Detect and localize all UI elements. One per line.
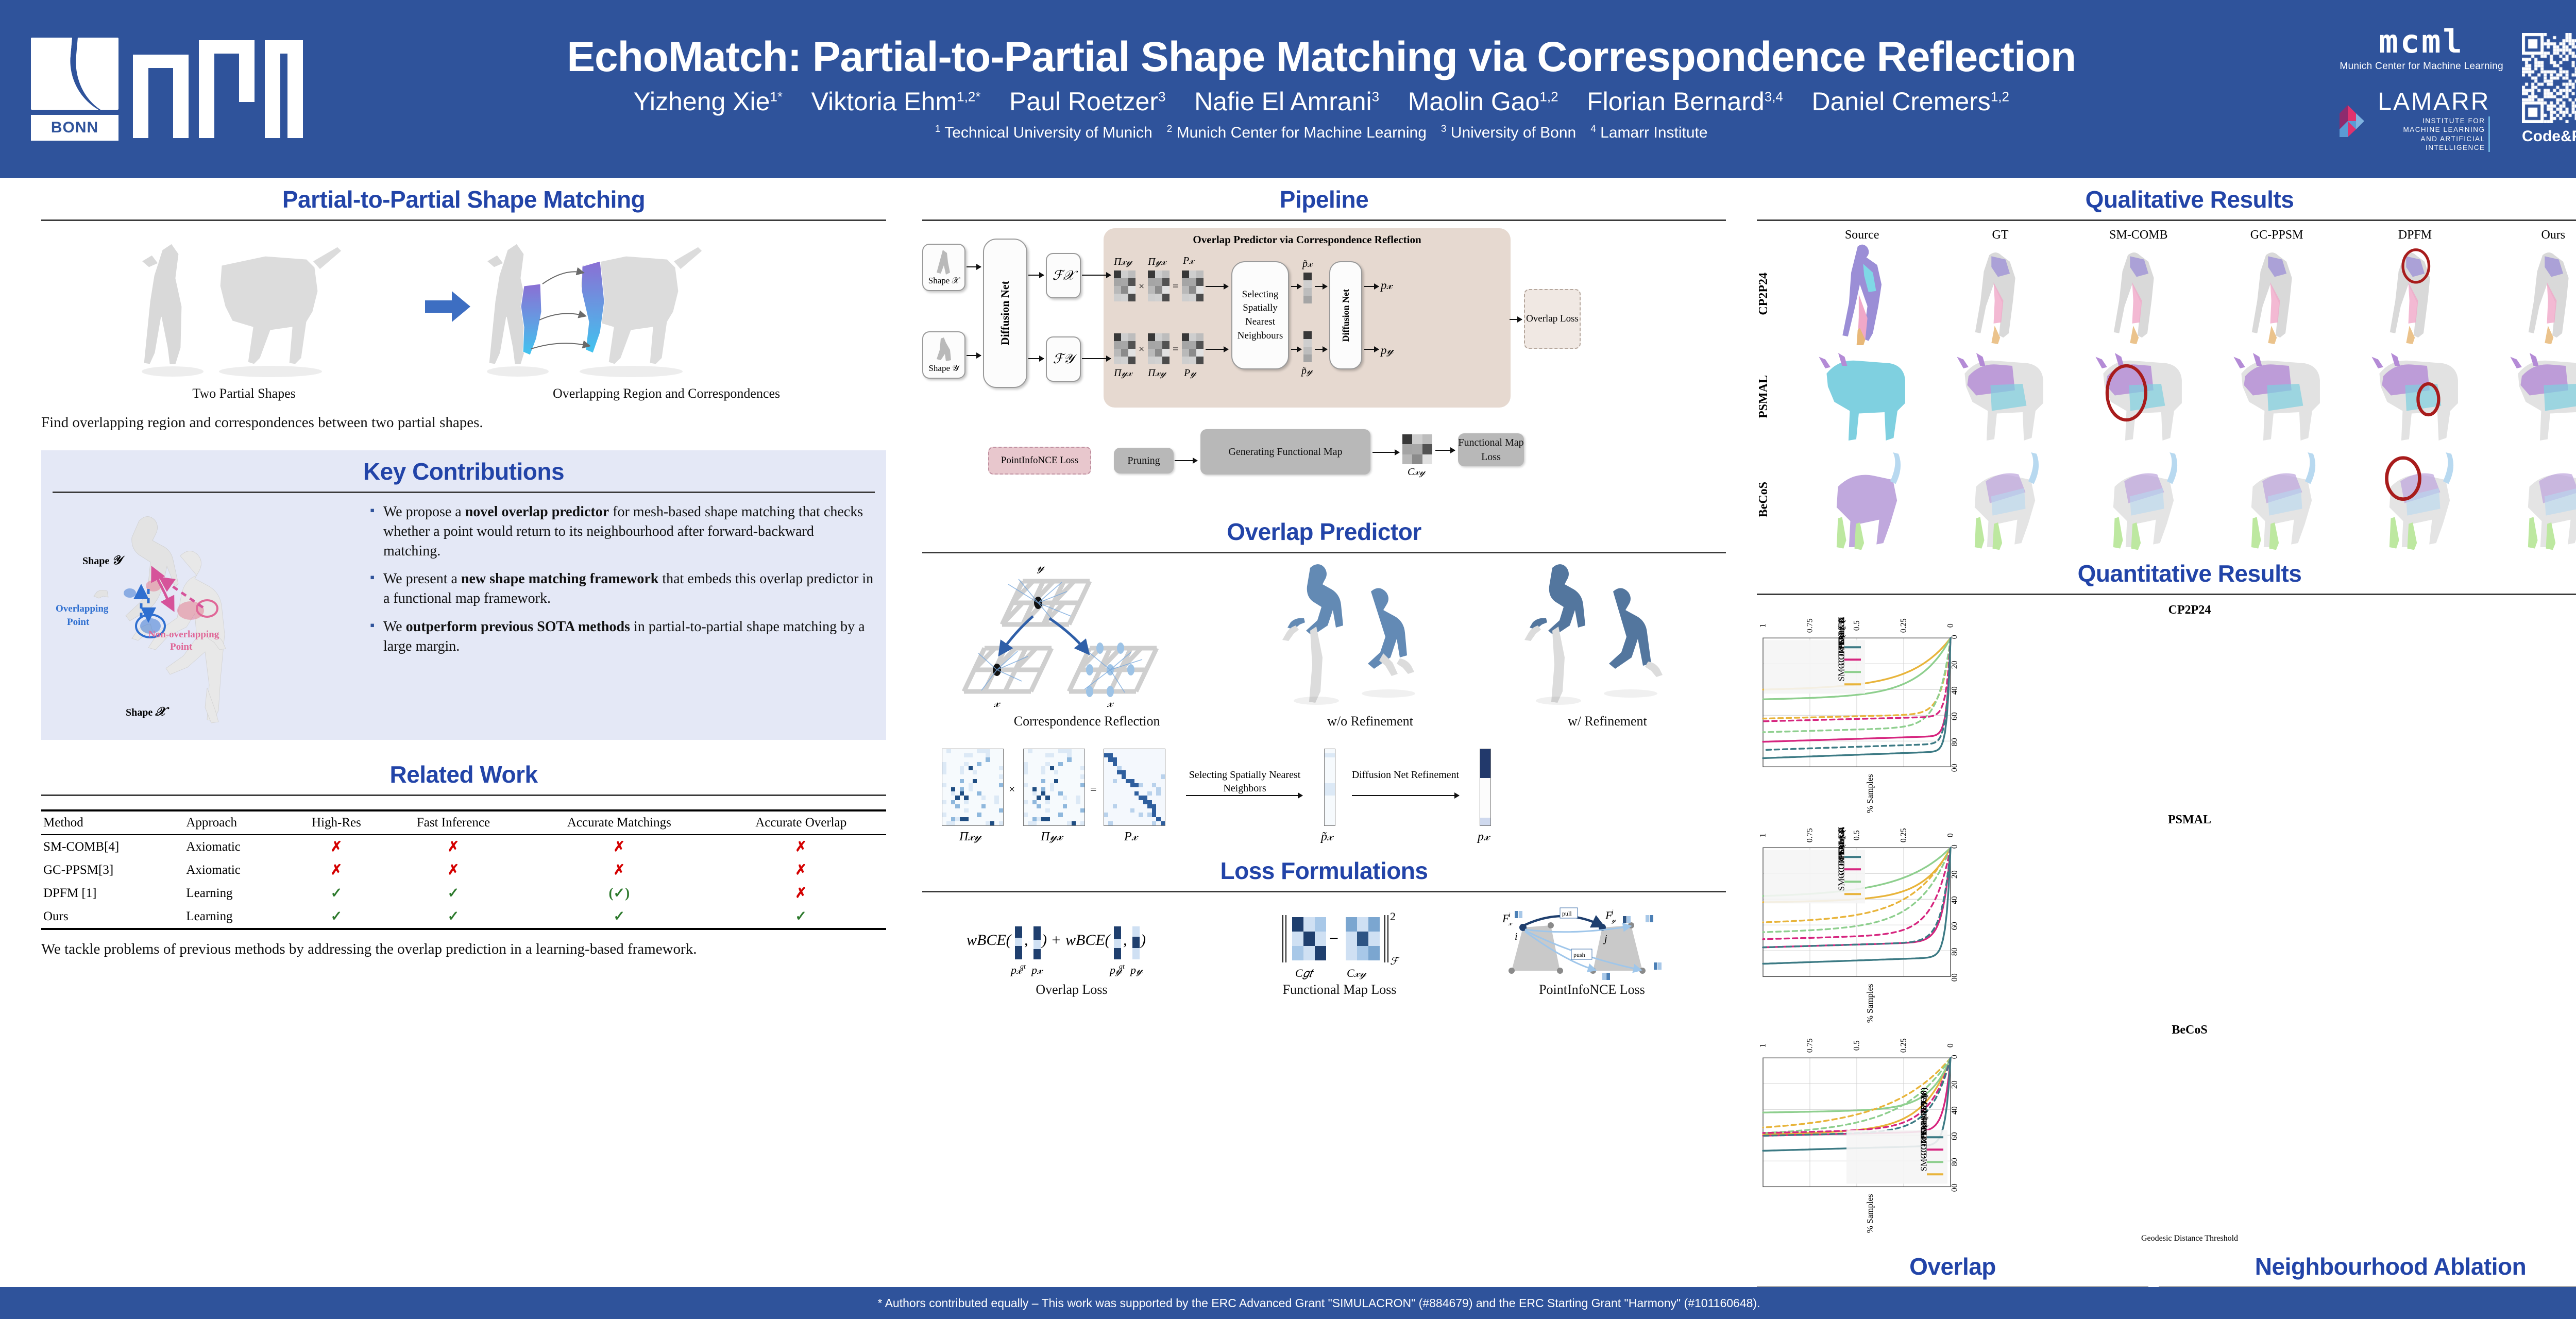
chart-2-ylabel: % Samples 0 20 40 60 80 100 0 0.25 0.5 0… (1757, 1037, 1984, 1233)
qual-col-1: GT (1931, 228, 2069, 242)
column-middle: Pipeline Shape 𝒳 Shape 𝒴 Diffusion Net ℱ… (922, 185, 1726, 997)
svg-text:ℱ: ℱ (1390, 956, 1400, 967)
pipeline-label-p-y: p𝓎 (1381, 344, 1394, 357)
kc-bullet-2: We outperform previous SOTA methods in p… (370, 617, 875, 656)
pipeline-label-shape-x: Shape 𝒳 (928, 276, 959, 286)
qual-cell-1-3 (2208, 345, 2346, 448)
op-label-y: 𝓎 (1037, 561, 1045, 574)
title-block: EchoMatch: Partial-to-Partial Shape Matc… (303, 36, 2340, 142)
loss-fmap: − 2 ℱ C𝑔𝑡 C𝓍𝓎 (1262, 905, 1417, 997)
qual-row-label-0: CP2P24 (1757, 273, 1793, 315)
svg-text:0: 0 (1951, 844, 1959, 849)
qual-cell-0-0 (1793, 242, 1931, 345)
svg-text:80: 80 (1951, 948, 1959, 956)
pipeline-node-features-x: ℱ𝒳 (1046, 253, 1081, 298)
rw-col-1: Approach (184, 810, 289, 835)
rw-approach-1: Axiomatic (184, 858, 289, 882)
op-final-bar (1480, 749, 1491, 826)
lamarr-subtitle: INSTITUTE FORMACHINE LEARNINGAND ARTIFIC… (2378, 116, 2490, 152)
kc-bullet-0: We propose a novel overlap predictor for… (370, 502, 875, 561)
lamarr-diamond-icon (2340, 105, 2371, 137)
pipeline-label-p-x: p𝓍 (1381, 279, 1392, 292)
divider (53, 492, 875, 493)
divider (922, 552, 1726, 553)
chart-1-title: PSMAL (1757, 813, 2576, 827)
svg-text:0: 0 (1951, 1055, 1959, 1059)
svg-text:0.25: 0.25 (1900, 618, 1908, 633)
qr-code-block[interactable]: Code&Paper (2522, 33, 2576, 145)
affiliation-1: 2 Munich Center for Machine Learning (1167, 124, 1427, 141)
column-right: Qualitative Results SourceGTSM-COMBGC-PP… (1757, 185, 2576, 1319)
qual-cell-0-4 (2346, 242, 2484, 345)
rw-cell-2-2: (✓) (522, 882, 716, 905)
chart-1-ylabel: % Samples 0 20 40 60 80 100 0 0.25 0.5 0… (1757, 827, 1984, 1023)
pipeline-label-pi-yx-1: Π𝓎𝓍 (1148, 256, 1166, 268)
table-row: MethodApproachHigh-ResFast InferenceAccu… (41, 810, 886, 835)
rw-method-0: SM-COMB[4] (41, 835, 184, 858)
kc-bullet-list: We propose a novel overlap predictor for… (370, 502, 875, 726)
rw-cell-0-2: ✗ (522, 835, 716, 858)
university-of-bonn-logo: BONN (31, 38, 118, 141)
qual-column-headers: SourceGTSM-COMBGC-PPSMDPFMOurs (1793, 228, 2576, 242)
op-mat-label-1: Π𝓎𝓍 (1041, 830, 1063, 844)
pipeline-op-equals-2: = (1173, 344, 1178, 356)
pipeline-label-pi-yx-2: Π𝓎𝓍 (1114, 367, 1132, 379)
svg-text:0.5: 0.5 (1853, 830, 1861, 840)
qual-col-4: DPFM (2346, 228, 2484, 242)
rw-col-0: Method (41, 810, 184, 835)
bonn-crest-icon (31, 38, 118, 110)
svg-text:𝓍: 𝓍 (1508, 920, 1513, 927)
svg-text:): ) (1140, 932, 1146, 949)
qual-cell-0-2 (2070, 242, 2208, 345)
pipeline-label-P-y: P𝓎 (1184, 367, 1196, 379)
poster-title-rest: Partial-to-Partial Shape Matching via Co… (812, 33, 2076, 80)
section-pipeline-title: Pipeline (922, 185, 1726, 213)
section-qual-title: Qualitative Results (1757, 185, 2576, 213)
quantitative-charts: CP2P24 % Samples 0 20 40 60 80 100 0 0.2… (1757, 603, 2576, 1233)
svg-text:0.75: 0.75 (1806, 1038, 1815, 1053)
pipeline-node-fmap-loss: Functional Map Loss (1458, 433, 1524, 466)
svg-text:) +: ) + (1041, 932, 1061, 949)
tum-logo-icon (133, 40, 303, 138)
section-related-work: Related Work MethodApproachHigh-ResFast … (41, 760, 886, 959)
op-label-x1: 𝓍 (993, 697, 1001, 710)
chart-1: PSMAL % Samples 0 20 40 60 80 100 0 0.25… (1757, 813, 2576, 1233)
svg-text:0: 0 (1951, 635, 1959, 639)
svg-text:80: 80 (1951, 1158, 1959, 1166)
footer-text: * Authors contributed equally – This wor… (878, 1296, 1760, 1310)
qual-cell-1-1 (1931, 345, 2069, 448)
affiliation-list: 1 Technical University of Munich2 Munich… (313, 124, 2329, 142)
svg-text:40: 40 (1951, 686, 1959, 695)
rw-approach-0: Axiomatic (184, 835, 289, 858)
rw-footnote: We tackle problems of previous methods b… (41, 939, 886, 959)
qual-cell-2-3 (2208, 448, 2346, 551)
qr-code-icon[interactable] (2522, 33, 2576, 123)
ptp-caption-right: Overlapping Region and Correspondences (447, 386, 886, 401)
rw-cell-3-0: ✓ (289, 905, 384, 929)
qual-col-3: GC-PPSM (2208, 228, 2346, 242)
svg-text:60: 60 (1951, 922, 1959, 930)
section-qualitative: Qualitative Results SourceGTSM-COMBGC-PP… (1757, 185, 2576, 551)
section-ptp-title: Partial-to-Partial Shape Matching (41, 185, 886, 213)
qual-cell-2-0 (1793, 448, 1931, 551)
rw-method-1: GC-PPSM[3] (41, 858, 184, 882)
chart-0-ylabel: % Samples 0 20 40 60 80 100 0 0.25 0.5 0… (1757, 617, 1984, 813)
author-2: Paul Roetzer3 (1009, 87, 1166, 116)
svg-text:20: 20 (1951, 1080, 1959, 1089)
section-quantitative: Quantitative Results CP2P24 % Samples 0 … (1757, 560, 2576, 1243)
lamarr-logo: LAMARR INSTITUTE FORMACHINE LEARNINGAND … (2340, 90, 2503, 152)
loss-caption-2: PointInfoNCE Loss (1499, 982, 1685, 997)
op-mat-op-1: = (1090, 783, 1096, 796)
author-0: Yizheng Xie1* (633, 87, 783, 116)
two-partial-shapes-illustration (131, 229, 420, 384)
pipeline-diagram: Shape 𝒳 Shape 𝒴 Diffusion Net ℱ𝒳 ℱ𝒴 Over… (922, 225, 1726, 503)
svg-text:𝓎: 𝓎 (1611, 917, 1616, 924)
author-1: Viktoria Ehm1,2* (811, 87, 981, 116)
section-loss-formulations: Loss Formulations wBCE( , ) + wBCE( , (922, 857, 1726, 997)
pipeline-node-shape-y: Shape 𝒴 (922, 331, 965, 379)
pipeline-label-P-x: P𝓍 (1183, 255, 1194, 267)
table-row: SM-COMB[4] Axiomatic✗✗✗✗ (41, 835, 886, 858)
rw-method-3: Ours (41, 905, 184, 929)
loss-push-label: push (1573, 951, 1585, 958)
qual-row-label-2: BeCoS (1757, 482, 1793, 517)
rw-cell-3-1: ✓ (384, 905, 523, 929)
op-matrix-chain: Π𝓍𝓎 × Π𝓎𝓍 = P𝓍 Selecting Spatially Neare… (922, 734, 1726, 853)
pipeline-node-shape-x: Shape 𝒳 (922, 244, 965, 291)
author-4: Maolin Gao1,2 (1408, 87, 1558, 116)
rw-approach-3: Learning (184, 905, 289, 929)
svg-text:gt: gt (1020, 963, 1026, 971)
author-3: Nafie El Amrani3 (1194, 87, 1379, 116)
qual-cell-2-1 (1931, 448, 2069, 551)
author-5: Florian Bernard3,4 (1587, 87, 1783, 116)
rw-col-2: High-Res (289, 810, 384, 835)
poster-header: BONN EchoMatch: Partial-to-Partial Shape… (0, 0, 2576, 178)
affiliation-3: 4 Lamarr Institute (1590, 124, 1707, 141)
svg-text:0.25: 0.25 (1900, 1038, 1908, 1053)
svg-text:wBCE(: wBCE( (1065, 932, 1111, 949)
rw-cell-1-3: ✗ (716, 858, 886, 882)
svg-text:Ours (84.61): Ours (84.61) (1837, 617, 1846, 644)
svg-text:60: 60 (1951, 712, 1959, 720)
op-arrow2-label: Diffusion Net Refinement (1349, 768, 1462, 782)
section-loss-title: Loss Formulations (922, 857, 1726, 885)
poster-root: BONN EchoMatch: Partial-to-Partial Shape… (0, 0, 2576, 1319)
author-6: Daniel Cremers1,2 (1811, 87, 2009, 116)
chart-0-title: CP2P24 (1757, 603, 2576, 617)
rw-cell-2-0: ✓ (289, 882, 384, 905)
divider (922, 891, 1726, 892)
mcml-subtitle: Munich Center for Machine Learning (2340, 61, 2503, 72)
loss-pull-label: pull (1562, 910, 1572, 917)
svg-text:100: 100 (1951, 764, 1959, 772)
svg-text:0.25: 0.25 (1900, 828, 1908, 842)
loss-caption-0: Overlap Loss (963, 982, 1180, 997)
loss-pointinfonce: pull push F 𝓍 i F 𝓎 j i j (1499, 905, 1685, 997)
svg-text:80: 80 (1951, 738, 1959, 746)
svg-text:gt: gt (1119, 963, 1125, 971)
column-left: Partial-to-Partial Shape Matching (41, 185, 886, 959)
rw-approach-2: Learning (184, 882, 289, 905)
svg-text:i: i (1515, 931, 1518, 942)
ptp-body: Find overlapping region and corresponden… (41, 413, 886, 433)
op-caption-0: Correspondence Reflection (922, 714, 1251, 729)
qual-row-label-1: PSMAL (1757, 375, 1793, 418)
op-mat-label-3: p̃𝓍 (1321, 830, 1333, 844)
divider (1757, 219, 2576, 221)
op-caption-2: w/ Refinement (1489, 714, 1726, 729)
rw-col-4: Accurate Matchings (522, 810, 716, 835)
svg-text:40: 40 (1951, 1106, 1959, 1114)
section-kc-title: Key Contributions (53, 458, 875, 485)
kc-figure: Shape 𝒴 Shape 𝒳 Overlapping Point Non-ov… (53, 502, 362, 726)
related-work-body: SM-COMB[4] Axiomatic✗✗✗✗ GC-PPSM[3] Axio… (41, 835, 886, 930)
svg-text:1: 1 (1759, 623, 1768, 628)
section-pipeline: Pipeline Shape 𝒳 Shape 𝒴 Diffusion Net ℱ… (922, 185, 1726, 503)
related-work-table: MethodApproachHigh-ResFast InferenceAccu… (41, 809, 886, 930)
svg-text:0.75: 0.75 (1806, 828, 1815, 842)
mcml-wordmark: mcml (2340, 26, 2503, 58)
svg-text:,: , (1123, 932, 1127, 949)
rw-col-3: Fast Inference (384, 810, 523, 835)
svg-text:Point: Point (67, 617, 90, 628)
pipeline-label-p-tilde-y: p̃𝓎 (1301, 365, 1313, 377)
chart-2-title: BeCoS (1757, 1023, 2576, 1037)
section-ablation-title: Neighbourhood Ablation (2159, 1253, 2576, 1280)
svg-text:0.5: 0.5 (1853, 1040, 1861, 1051)
rw-cell-3-2: ✓ (522, 905, 716, 929)
pipeline-label-C-xy: C𝓍𝓎 (1408, 466, 1425, 478)
mcml-logo: mcml Munich Center for Machine Learning (2340, 26, 2503, 72)
rw-cell-3-3: ✓ (716, 905, 886, 929)
section-overlap-title: Overlap (1757, 1253, 2148, 1280)
w-refinement-figure (1522, 561, 1687, 713)
pipeline-node-diffusion-net: Diffusion Net (983, 239, 1027, 388)
pipeline-op-times-1: × (1139, 281, 1144, 293)
svg-text:1: 1 (1759, 1043, 1768, 1047)
wo-refinement-figure (1280, 561, 1445, 713)
section-rw-title: Related Work (41, 760, 886, 788)
svg-text:40: 40 (1951, 896, 1959, 904)
svg-text:0: 0 (1946, 623, 1955, 628)
pipeline-label-p-tilde-x: p̃𝓍 (1302, 258, 1312, 270)
qual-cell-1-4 (2346, 345, 2484, 448)
section-op-title: Overlap Predictor (922, 518, 1726, 546)
rw-cell-0-1: ✗ (384, 835, 523, 858)
divider (922, 219, 1726, 221)
qual-row-0: CP2P24 (1757, 242, 2576, 345)
pipeline-overlap-predictor-box: Overlap Predictor via Correspondence Ref… (1104, 228, 1511, 408)
rw-method-2: DPFM [1] (41, 882, 184, 905)
pipeline-op-title: Overlap Predictor via Correspondence Ref… (1104, 228, 1511, 246)
rw-cell-0-3: ✗ (716, 835, 886, 858)
qual-cell-2-4 (2346, 448, 2484, 551)
affiliation-0: 1 Technical University of Munich (935, 124, 1153, 141)
svg-text:1: 1 (1759, 833, 1768, 837)
svg-text:p𝓎: p𝓎 (1129, 963, 1143, 976)
pipeline-node-pruning: Pruning (1114, 448, 1174, 474)
correspondence-reflection-figure: 𝓎 𝓍 𝓍 (961, 561, 1203, 713)
loss-overlap: wBCE( , ) + wBCE( , ) p𝓍 gt (963, 905, 1180, 997)
kc-label-shape-y: Shape 𝒴 (82, 554, 125, 567)
pipeline-node-overlap-loss: Overlap Loss (1524, 289, 1581, 349)
qual-cell-1-5 (2484, 345, 2576, 448)
svg-text:Ours (81.27): Ours (81.27) (1837, 827, 1846, 854)
rw-cell-0-0: ✗ (289, 835, 384, 858)
pipeline-node-generating-fmap: Generating Functional Map (1200, 429, 1370, 475)
rw-cell-2-1: ✓ (384, 882, 523, 905)
kc-label-shape-x: Shape 𝒳 (126, 705, 170, 719)
author-list: Yizheng Xie1* Viktoria Ehm1,2* Paul Roet… (313, 87, 2329, 116)
kc-bullet-1: We present a new shape matching framewor… (370, 569, 875, 608)
chart-2-legend: SM-COMB (39.79) GC-PPSM (30.72) DPFM (45… (1846, 1087, 1947, 1183)
overlap-correspondence-illustration (477, 229, 796, 384)
rw-cell-1-1: ✗ (384, 858, 523, 882)
pipeline-label-pi-xy-2: Π𝓍𝓎 (1148, 367, 1166, 379)
svg-text:100: 100 (1951, 973, 1959, 982)
svg-text:2: 2 (1390, 910, 1396, 923)
chart-2: BeCoS % Samples 0 20 40 60 80 100 0 0.25… (1757, 1023, 2576, 1233)
arrow-right-icon (425, 286, 471, 327)
qual-cell-0-1 (1931, 242, 2069, 345)
table-row: Ours Learning✓✓✓✓ (41, 905, 886, 929)
pipeline-op-times-2: × (1139, 344, 1144, 356)
svg-text:20: 20 (1951, 870, 1959, 878)
svg-text:−: − (1329, 929, 1338, 948)
op-mat-label-2: P𝓍 (1124, 830, 1138, 844)
table-row: DPFM [1] Learning✓✓(✓)✗ (41, 882, 886, 905)
qual-cell-1-2 (2070, 345, 2208, 448)
op-mat-label-4: p𝓍 (1478, 830, 1489, 844)
bonn-logo-text: BONN (31, 115, 118, 141)
loss-caption-1: Functional Map Loss (1262, 982, 1417, 997)
qual-rows: CP2P24 (1757, 242, 2576, 551)
rw-col-5: Accurate Overlap (716, 810, 886, 835)
svg-text:,: , (1024, 932, 1028, 949)
pipeline-op-equals-1: = (1173, 281, 1178, 293)
affiliation-2: 3 University of Bonn (1441, 124, 1576, 141)
tum-logo (133, 40, 303, 138)
chart-1-legend: SM-COMB (31.03) GC-PPSM (24.58) DPFM (67… (1764, 827, 1865, 903)
section-overlap-predictor: Overlap Predictor (922, 518, 1726, 853)
table-row: GC-PPSM[3] Axiomatic✗✗✗✗ (41, 858, 886, 882)
svg-text:0.75: 0.75 (1806, 618, 1815, 633)
qr-code-label: Code&Paper (2522, 128, 2576, 145)
qual-cell-0-3 (2208, 242, 2346, 345)
rw-cell-1-0: ✗ (289, 858, 384, 882)
rw-cell-2-3: ✗ (716, 882, 886, 905)
divider (41, 219, 886, 221)
op-arrow1-label: Selecting Spatially Nearest Neighbors (1183, 768, 1307, 795)
svg-text:0: 0 (1946, 1043, 1955, 1047)
svg-text:wBCE(: wBCE( (967, 932, 1012, 949)
pipeline-label-shape-y: Shape 𝒴 (928, 363, 959, 374)
two-humans-overlap-illustration: Shape 𝒴 Shape 𝒳 Overlapping Point Non-ov… (53, 502, 362, 724)
pipeline-node-diffusion-net-2: Diffusion Net (1329, 261, 1362, 369)
svg-text:0.5: 0.5 (1853, 620, 1861, 631)
svg-text:Point: Point (170, 641, 193, 652)
rw-cell-1-2: ✗ (522, 858, 716, 882)
pipeline-node-selecting-neighbours: Selecting Spatially Nearest Neighbours (1231, 261, 1289, 369)
chart-0-legend: SM-COMB (32.12) GC-PPSM (36.78) DPFM (72… (1764, 617, 1865, 694)
qual-cell-2-2 (2070, 448, 2208, 551)
svg-text:60: 60 (1951, 1132, 1959, 1140)
qual-cell-2-5 (2484, 448, 2576, 551)
ptp-figure (41, 229, 886, 384)
qual-cell-0-5 (2484, 242, 2576, 345)
op-label-x2: 𝓍 (1107, 697, 1114, 710)
op-mat-op-0: × (1009, 783, 1015, 796)
ptp-caption-left: Two Partial Shapes (41, 386, 447, 401)
op-mat-label-0: Π𝓍𝓎 (959, 830, 981, 844)
qual-col-5: Ours (2484, 228, 2576, 242)
pipeline-node-features-y: ℱ𝒴 (1046, 336, 1081, 382)
divider (1757, 594, 2576, 595)
charts-xaxis-label: Geodesic Distance Threshold (1757, 1234, 2576, 1243)
section-quant-title: Quantitative Results (1757, 560, 2576, 587)
sponsor-logos: mcml Munich Center for Machine Learning (2340, 26, 2576, 152)
divider (41, 794, 886, 796)
svg-text:p𝓍: p𝓍 (1030, 963, 1043, 976)
svg-text:20: 20 (1951, 661, 1959, 669)
svg-text:0: 0 (1946, 833, 1955, 837)
qual-row-1: PSMAL (1757, 345, 2576, 448)
kc-label-non-overlapping: Non-overlapping (148, 629, 219, 640)
lamarr-wordmark: LAMARR (2378, 90, 2490, 114)
pipeline-node-pointinfonce-loss: PointInfoNCE Loss (988, 447, 1091, 475)
qual-cell-1-0 (1793, 345, 1931, 448)
qual-row-2: BeCoS (1757, 448, 2576, 551)
qual-col-2: SM-COMB (2070, 228, 2208, 242)
svg-text:Ours (59.18): Ours (59.18) (1919, 1087, 1929, 1134)
pipeline-label-pi-xy-1: Π𝓍𝓎 (1114, 256, 1132, 268)
chart-0: CP2P24 % Samples 0 20 40 60 80 100 0 0.2… (1757, 603, 2576, 1233)
svg-text:C𝓍𝓎: C𝓍𝓎 (1347, 967, 1367, 979)
svg-text:100: 100 (1951, 1183, 1959, 1192)
poster-title-bold: EchoMatch: (567, 33, 801, 80)
section-key-contributions: Key Contributions (41, 450, 886, 740)
poster-title: EchoMatch: Partial-to-Partial Shape Matc… (313, 36, 2329, 78)
svg-text:C𝑔𝑡: C𝑔𝑡 (1295, 967, 1314, 979)
poster-footer: * Authors contributed equally – This wor… (0, 1287, 2576, 1319)
section-partial-to-partial: Partial-to-Partial Shape Matching (41, 185, 886, 433)
op-caption-1: w/o Refinement (1251, 714, 1488, 729)
svg-text:i: i (1509, 911, 1511, 919)
kc-label-overlapping: Overlapping (56, 603, 109, 614)
related-work-header: MethodApproachHigh-ResFast InferenceAccu… (41, 810, 886, 835)
qual-col-0: Source (1793, 228, 1931, 242)
